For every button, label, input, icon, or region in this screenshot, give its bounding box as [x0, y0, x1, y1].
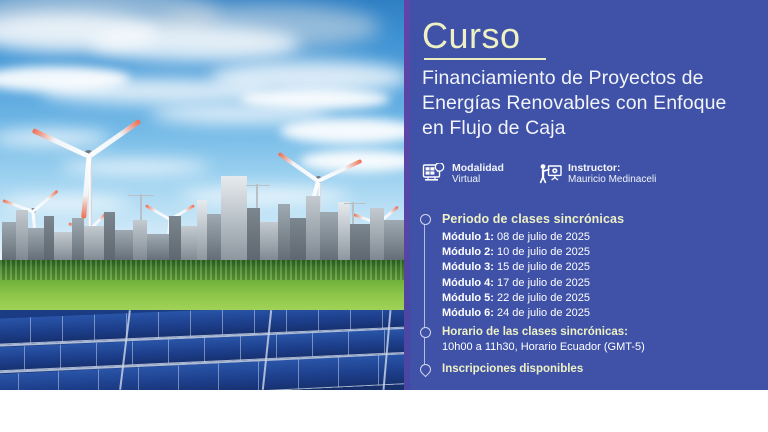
- module-item: Módulo 2: 10 de julio de 2025: [442, 245, 742, 260]
- meta-modalidad-value: Virtual: [452, 174, 480, 185]
- schedule-block: Periodo de clases sincrónicas Módulo 1: …: [442, 212, 742, 321]
- grass-field: [0, 280, 410, 314]
- video-conference-icon: [422, 163, 446, 185]
- city-skyline: [0, 170, 410, 262]
- kicker-underline: [424, 58, 546, 60]
- module-label: Módulo 1:: [442, 231, 494, 243]
- module-label: Módulo 2:: [442, 246, 494, 258]
- module-label: Módulo 6:: [442, 307, 494, 319]
- module-date: 22 de julio de 2025: [497, 292, 590, 304]
- module-item: Módulo 3: 15 de julio de 2025: [442, 260, 742, 275]
- enrollment-status: Inscripciones disponibles: [442, 363, 583, 375]
- hours-value: 10h00 a 11h30, Horario Ecuador (GMT-5): [442, 341, 645, 353]
- partner-logo-bar: lade ORGANIZACIÓN LATINOAMERICANA DE ENE…: [0, 390, 768, 432]
- module-date: 17 de julio de 2025: [497, 277, 590, 289]
- module-date: 15 de julio de 2025: [497, 261, 590, 273]
- module-item: Módulo 5: 22 de julio de 2025: [442, 291, 742, 306]
- meta-instructor: Instructor: Mauricio Medinaceli: [538, 162, 656, 186]
- meta-instructor-value: Mauricio Medinaceli: [568, 174, 656, 185]
- meta-modalidad: Modalidad Virtual: [422, 162, 504, 186]
- timeline-marker-schedule: [420, 214, 431, 225]
- cloud: [90, 26, 300, 62]
- hours-heading: Horario de las clases sincrónicas:: [442, 325, 742, 340]
- module-date: 24 de julio de 2025: [497, 307, 590, 319]
- meta-instructor-text: Instructor: Mauricio Medinaceli: [568, 162, 656, 186]
- schedule-heading: Periodo de clases sincrónicas: [442, 212, 742, 226]
- module-item: Módulo 1: 08 de julio de 2025: [442, 230, 742, 245]
- course-headline: Financiamiento de Proyectos de Energías …: [422, 66, 752, 141]
- hedge-row: [0, 260, 410, 282]
- hero-photo: [0, 0, 410, 390]
- meta-modalidad-title: Modalidad: [452, 162, 504, 174]
- module-item: Módulo 4: 17 de julio de 2025: [442, 276, 742, 291]
- meta-row: Modalidad Virtual: [418, 160, 758, 194]
- hours-block: Horario de las clases sincrónicas: 10h00…: [442, 325, 742, 355]
- module-date: 10 de julio de 2025: [497, 246, 590, 258]
- meta-modalidad-text: Modalidad Virtual: [452, 162, 504, 186]
- module-date: 08 de julio de 2025: [497, 231, 590, 243]
- cloud: [280, 118, 410, 144]
- panel-kicker: Curso: [422, 16, 521, 56]
- course-poster: Curso Financiamiento de Proyectos de Ene…: [0, 0, 768, 432]
- module-item: Módulo 6: 24 de julio de 2025: [442, 306, 742, 321]
- solar-panel-array: [0, 310, 410, 390]
- module-label: Módulo 4:: [442, 277, 494, 289]
- module-label: Módulo 5:: [442, 292, 494, 304]
- module-label: Módulo 3:: [442, 261, 494, 273]
- instructor-presenter-icon: [538, 163, 562, 185]
- meta-instructor-title: Instructor:: [568, 162, 656, 174]
- timeline-line: [424, 218, 425, 370]
- timeline-marker-hours: [420, 327, 431, 338]
